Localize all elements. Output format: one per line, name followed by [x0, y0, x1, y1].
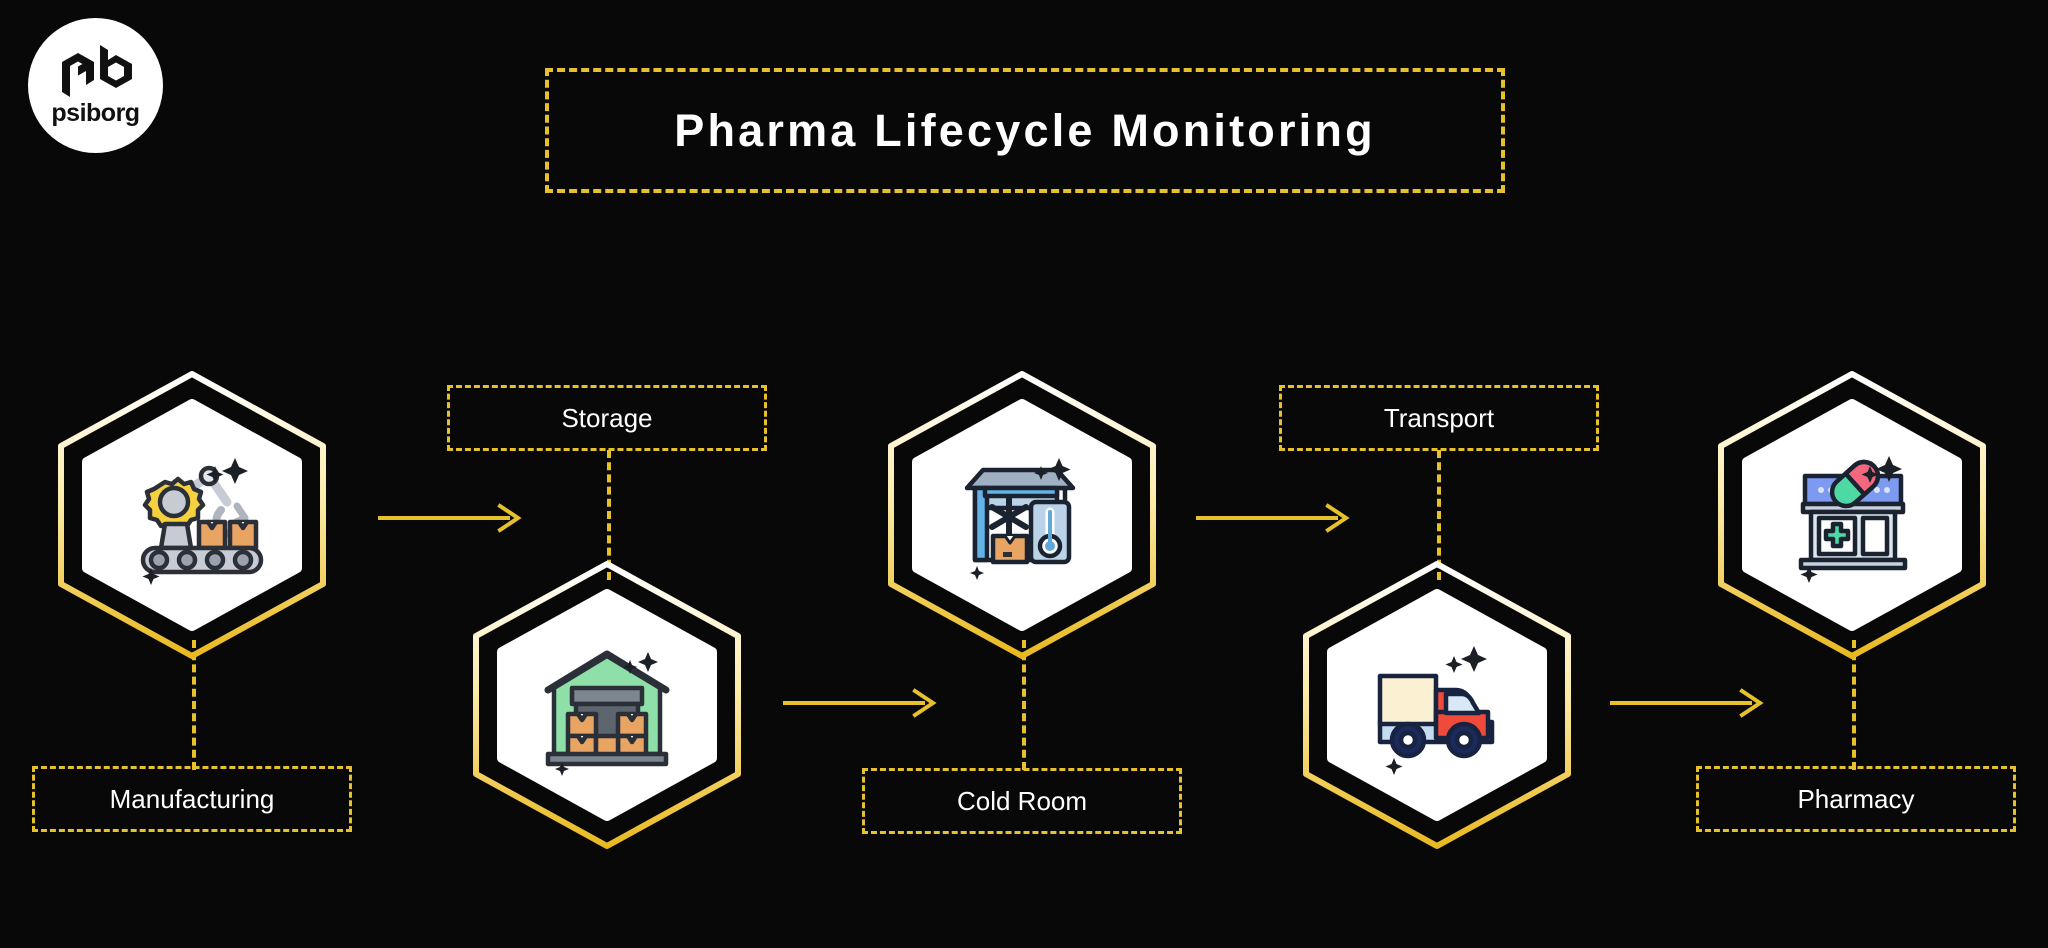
stage-label-text: Transport [1384, 403, 1494, 434]
stage-label-storage: Storage [447, 385, 767, 451]
pharmacy-storefront-icon [1777, 440, 1927, 590]
stage-label-cold-room: Cold Room [862, 768, 1182, 834]
stage-node-cold-room[interactable] [877, 370, 1167, 660]
brand-wordmark: psiborg [51, 101, 139, 126]
robotic-arm-conveyor-icon [117, 440, 267, 590]
brand-logo: psiborg [28, 18, 163, 153]
stage-label-pharmacy: Pharmacy [1696, 766, 2016, 832]
page-title-banner: Pharma Lifecycle Monitoring [545, 68, 1505, 193]
stage-label-text: Cold Room [957, 786, 1087, 817]
warehouse-icon [532, 630, 682, 780]
psiborg-pb-monogram-icon [58, 45, 134, 97]
delivery-truck-icon [1362, 630, 1512, 780]
stage-node-manufacturing[interactable] [47, 370, 337, 660]
stage-label-text: Manufacturing [110, 784, 275, 815]
stage-node-storage[interactable] [462, 560, 752, 850]
flow-arrow-4 [1610, 690, 1765, 716]
page-title: Pharma Lifecycle Monitoring [674, 105, 1376, 157]
infographic-canvas: psiborg Pharma Lifecycle Monitoring [0, 0, 2048, 948]
stage-label-manufacturing: Manufacturing [32, 766, 352, 832]
stage-label-transport: Transport [1279, 385, 1599, 451]
stage-label-text: Pharmacy [1797, 784, 1914, 815]
stage-node-transport[interactable] [1292, 560, 1582, 850]
flow-arrow-3 [1196, 505, 1351, 531]
stage-node-pharmacy[interactable] [1707, 370, 1997, 660]
cold-storage-thermometer-icon [947, 440, 1097, 590]
flow-arrow-1 [378, 505, 523, 531]
flow-arrow-2 [783, 690, 938, 716]
stage-label-text: Storage [561, 403, 652, 434]
